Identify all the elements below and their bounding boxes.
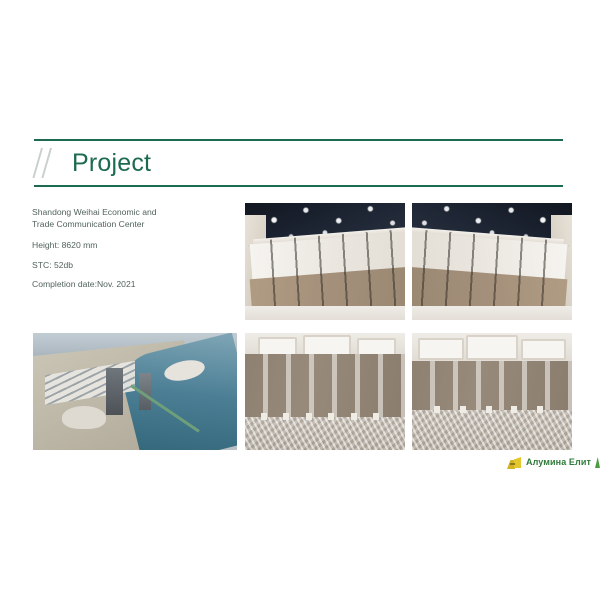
project-completion-date: Completion date:Nov. 2021 — [32, 278, 222, 290]
photo-bottom-mid — [245, 333, 405, 450]
photo-bottom-right — [412, 333, 572, 450]
project-info-block: Shandong Weihai Economic and Trade Commu… — [32, 206, 222, 290]
project-stc: STC: 52db — [32, 259, 222, 271]
header-rule-bottom — [34, 185, 563, 187]
project-name: Shandong Weihai Economic and Trade Commu… — [32, 206, 222, 230]
company-logo-text: Алумина Елит — [526, 458, 591, 467]
photo-bottom-left — [33, 333, 237, 450]
alumina-mark-icon — [507, 456, 522, 469]
photo-top-right — [412, 203, 572, 320]
company-logo: Алумина Елит — [507, 456, 600, 469]
leaf-icon — [595, 457, 600, 468]
header-body: Project — [34, 141, 563, 185]
slide-canvas: Project Shandong Weihai Economic and Tra… — [0, 0, 600, 600]
slide-header: Project — [34, 139, 563, 187]
photo-top-left — [245, 203, 405, 320]
page-title: Project — [72, 151, 151, 176]
double-slash-icon — [36, 148, 62, 178]
project-height: Height: 8620 mm — [32, 239, 222, 251]
